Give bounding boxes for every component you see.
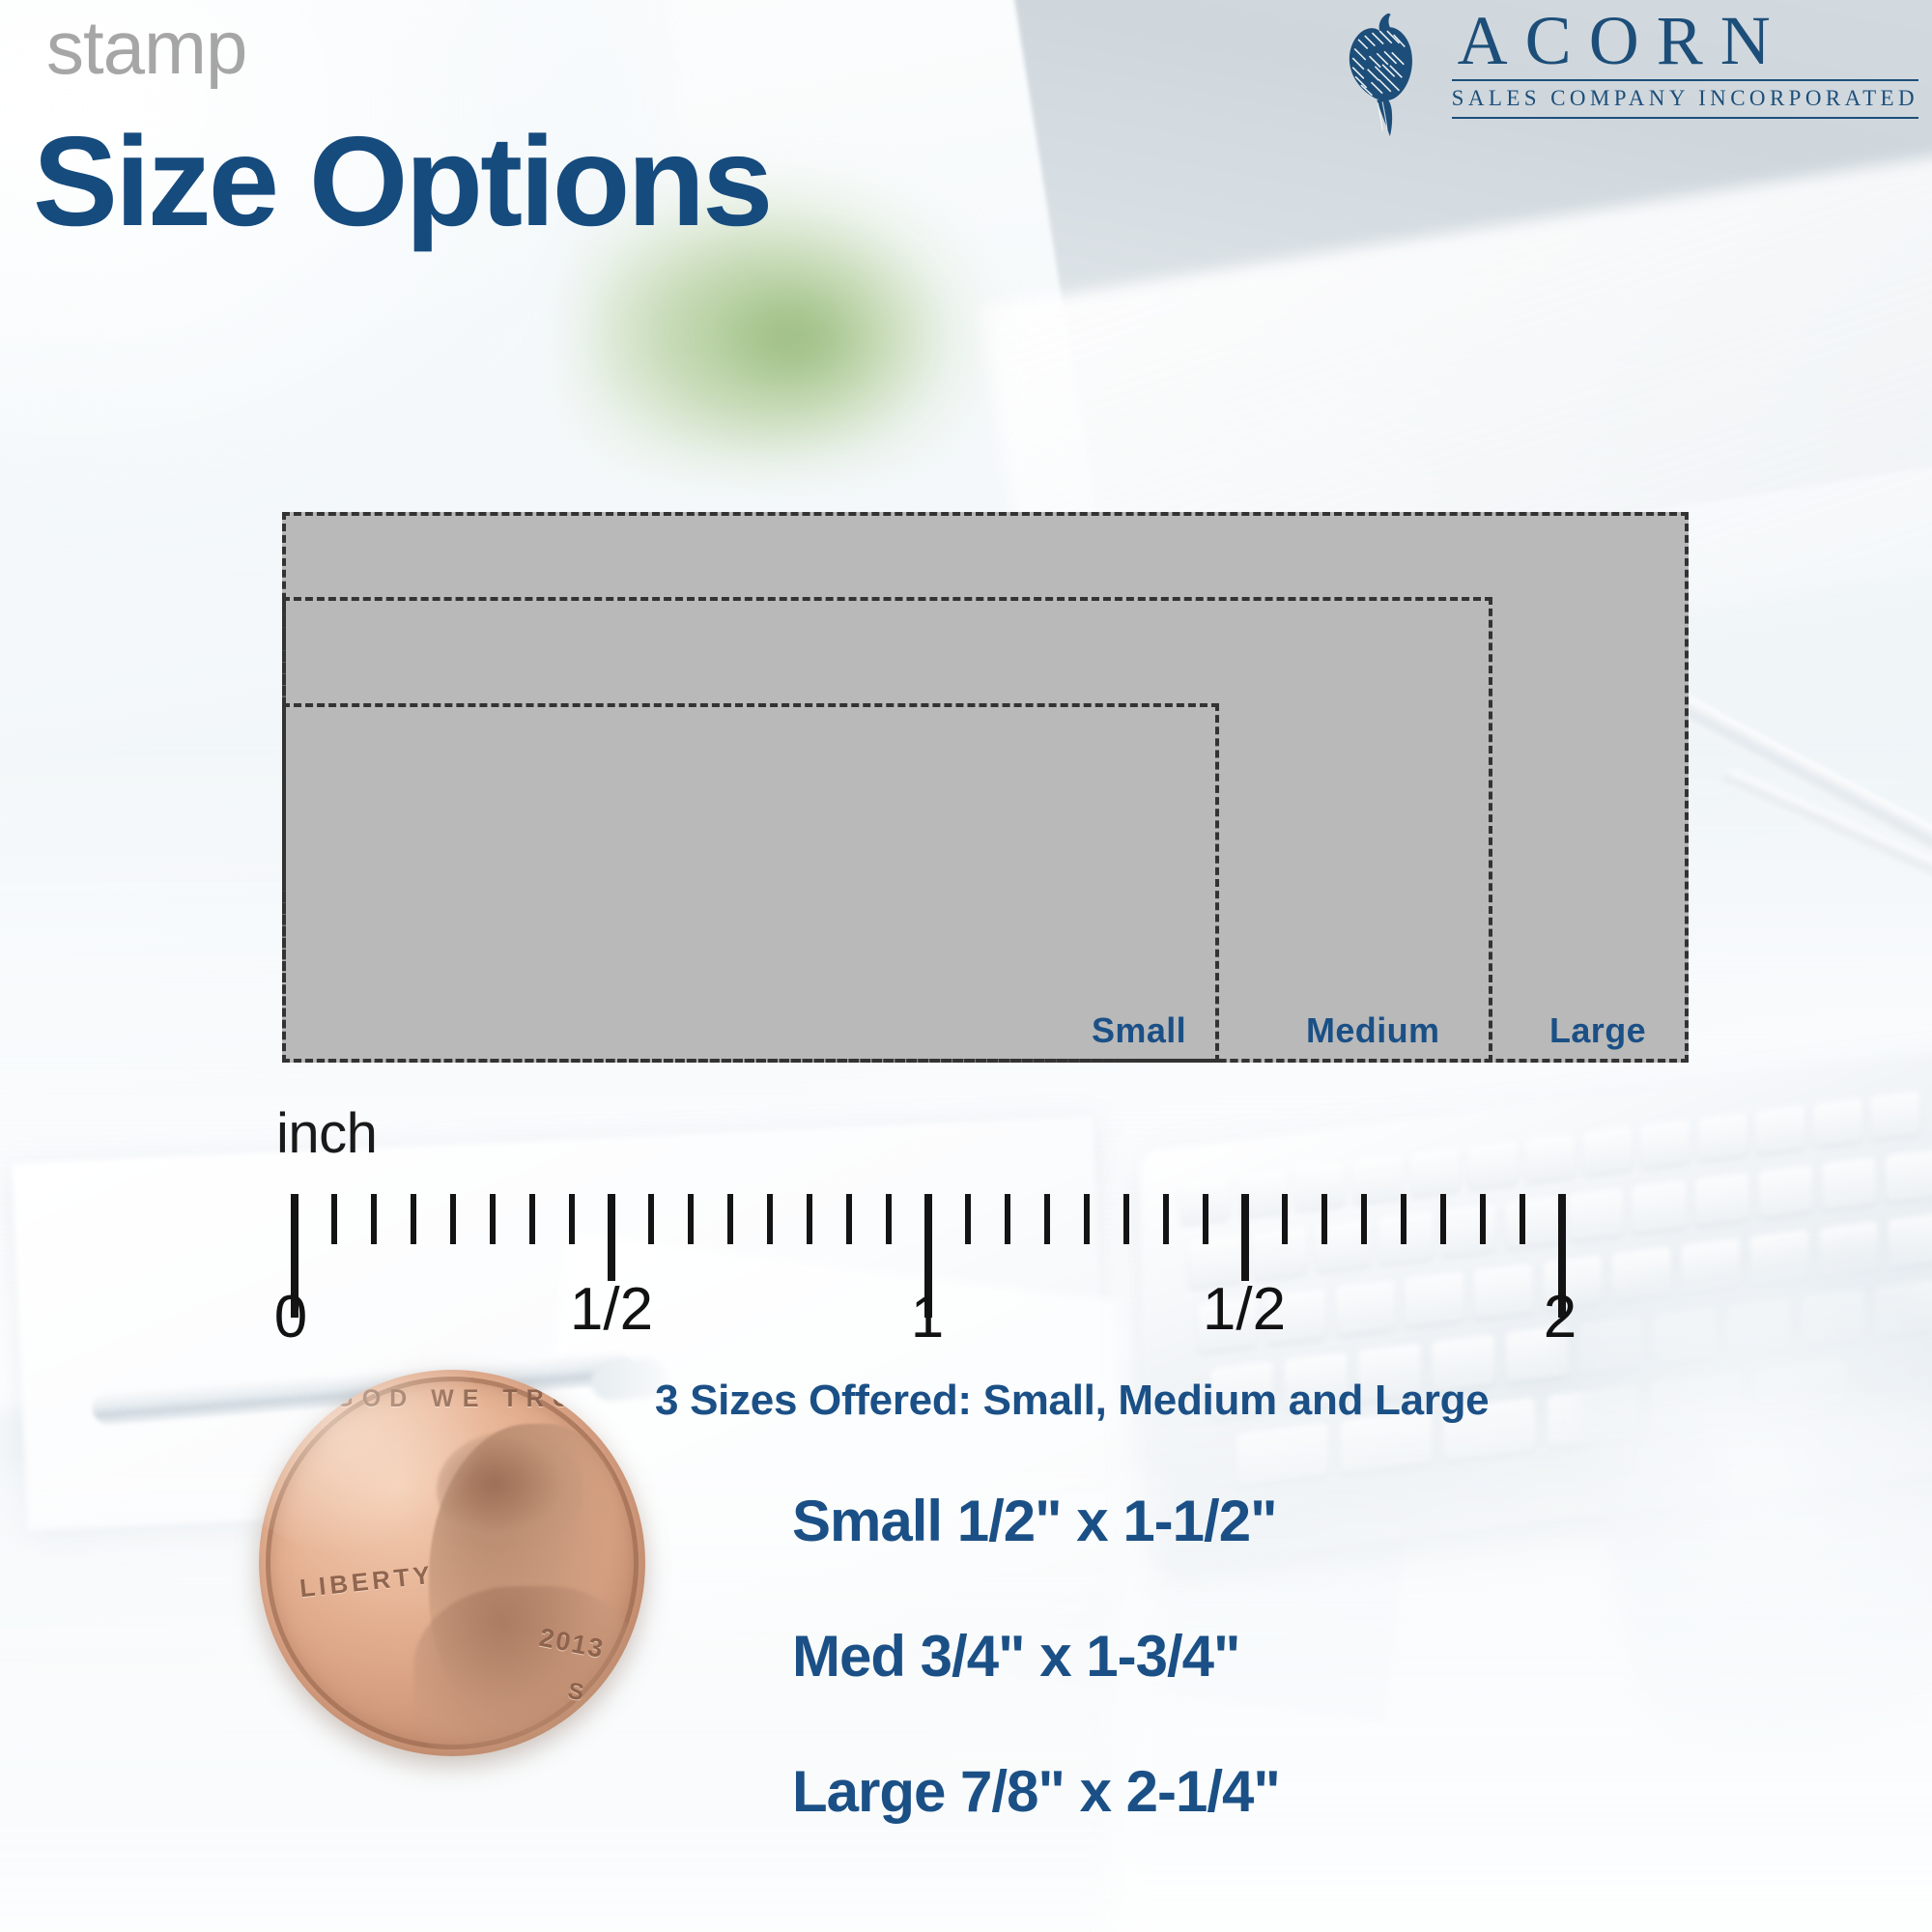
ruler-tick-minor: [1084, 1194, 1090, 1244]
ruler-tick-minor: [529, 1194, 535, 1244]
ruler-tick-half: [1241, 1194, 1249, 1281]
ruler-tick-minor: [727, 1194, 733, 1244]
size-box-label-medium: Medium: [1306, 1010, 1439, 1051]
ruler-tick-minor: [490, 1194, 496, 1244]
ruler-tick-minor: [1282, 1194, 1288, 1244]
size-box-label-large: Large: [1549, 1010, 1646, 1051]
ruler-number-2: 2: [1544, 1283, 1577, 1351]
size-spec-small: Small 1/2" x 1-1/2": [792, 1488, 1277, 1554]
ruler-number-0: 0: [274, 1283, 307, 1351]
ruler-tick-minor: [331, 1194, 337, 1244]
ruler-tick-minor: [1401, 1194, 1406, 1244]
offer-headline: 3 Sizes Offered: Small, Medium and Large: [655, 1377, 1489, 1425]
ruler-tick-minor: [1520, 1194, 1525, 1244]
ruler-tick-minor: [1440, 1194, 1446, 1244]
ruler-tick-half: [608, 1194, 615, 1281]
ruler-tick-minor: [965, 1194, 971, 1244]
ruler-number-1: 1: [911, 1283, 944, 1351]
ruler-tick-minor: [411, 1194, 416, 1244]
ruler-tick-minor: [846, 1194, 852, 1244]
ruler-tick-minor: [767, 1194, 773, 1244]
ruler-tick-minor: [886, 1194, 892, 1244]
ruler-tick-minor: [569, 1194, 575, 1244]
ruler-tick-minor: [1480, 1194, 1486, 1244]
ruler-tick-minor: [648, 1194, 654, 1244]
ruler-tick-minor: [450, 1194, 456, 1244]
ruler-tick-minor: [1321, 1194, 1327, 1244]
ruler-number-half-1: 1/2: [570, 1275, 653, 1344]
ruler-tick-minor: [688, 1194, 694, 1244]
penny-portrait-bust: [413, 1586, 638, 1756]
ruler-tick-minor: [1163, 1194, 1169, 1244]
penny-coin-reference: IN GOD WE TRUST LIBERTY 2013 S: [259, 1370, 645, 1756]
ruler-unit-label: inch: [276, 1101, 377, 1166]
size-spec-large: Large 7/8" x 2-1/4": [792, 1758, 1280, 1825]
product-size-options-graphic: stamp Size Options ACORN SALES COMPANY I…: [0, 0, 1932, 1932]
ruler-tick-minor: [1203, 1194, 1208, 1244]
size-box-small: [282, 703, 1219, 1063]
ruler-tick-minor: [1005, 1194, 1010, 1244]
ruler-tick-minor: [1044, 1194, 1050, 1244]
size-box-label-small: Small: [1092, 1010, 1186, 1051]
ruler-tick-minor: [807, 1194, 812, 1244]
ruler-tick-minor: [1361, 1194, 1367, 1244]
ruler-tick-minor: [1123, 1194, 1129, 1244]
size-spec-medium: Med 3/4" x 1-3/4": [792, 1623, 1239, 1690]
ruler-tick-minor: [371, 1194, 377, 1244]
ruler-number-half-2: 1/2: [1203, 1275, 1286, 1344]
